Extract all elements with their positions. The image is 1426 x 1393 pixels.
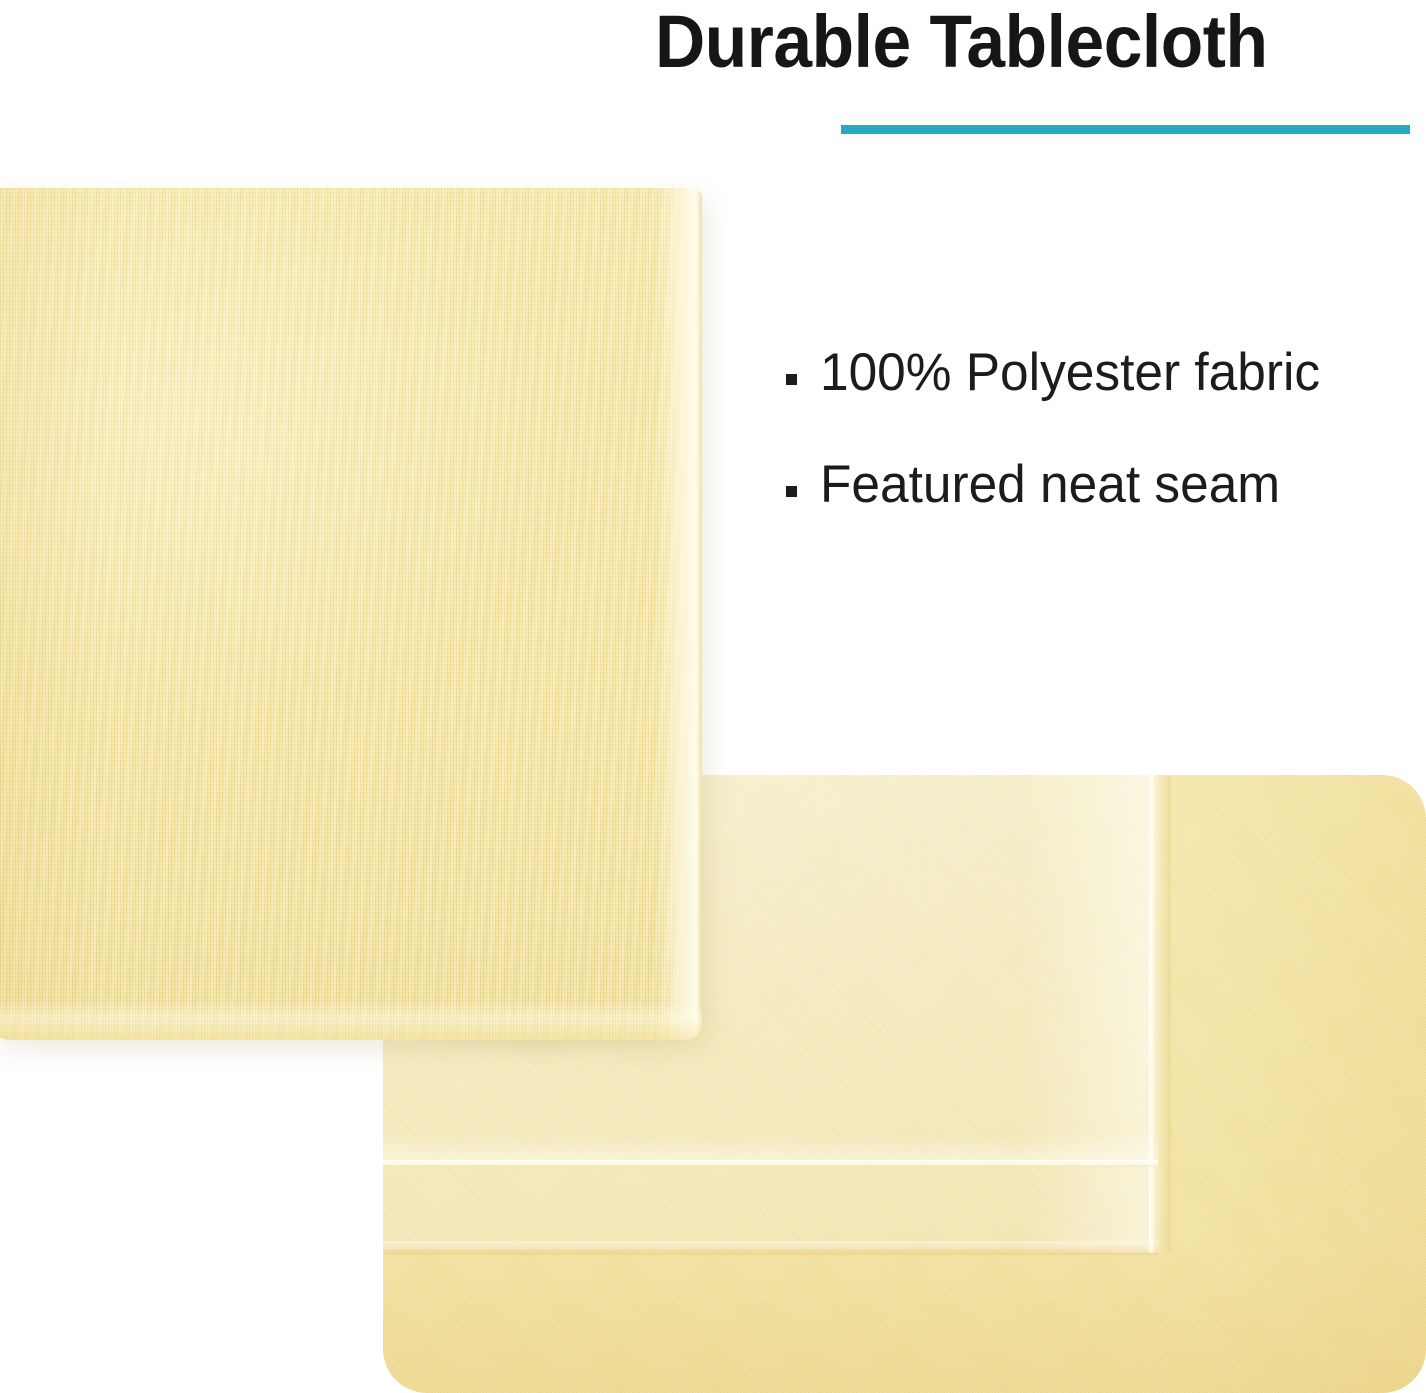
- page-title: Durable Tablecloth: [655, 0, 1425, 88]
- page-title-text: Durable Tablecloth: [655, 5, 1268, 79]
- fold-shadow-left: [0, 188, 110, 1040]
- list-item: Featured neat seam: [786, 456, 1406, 514]
- accent-divider: [841, 125, 1410, 134]
- hem-edge-vertical: [1155, 775, 1171, 1253]
- hem-seam-vertical: [1149, 775, 1157, 1253]
- folded-tablecloth-front: [0, 188, 702, 1040]
- hem-seam-horizontal: [383, 1160, 1158, 1167]
- hem-seam-vertical-glow: [1023, 775, 1151, 1253]
- feature-list: 100% Polyester fabric Featured neat seam: [786, 344, 1406, 569]
- list-item: 100% Polyester fabric: [786, 344, 1406, 402]
- hem-seam-horizontal-glow: [383, 1135, 1158, 1161]
- folded-edge-highlight-bottom: [0, 1000, 702, 1040]
- feature-label: Featured neat seam: [820, 456, 1280, 514]
- square-bullet-icon: [786, 374, 797, 385]
- lower-cloth-bottom-shading: [383, 1243, 1426, 1393]
- product-feature-image: Durable Tablecloth 100% Polyester fabric…: [0, 0, 1426, 1393]
- feature-label: 100% Polyester fabric: [820, 344, 1320, 402]
- square-bullet-icon: [786, 486, 797, 497]
- folded-edge-highlight-right: [656, 188, 702, 1040]
